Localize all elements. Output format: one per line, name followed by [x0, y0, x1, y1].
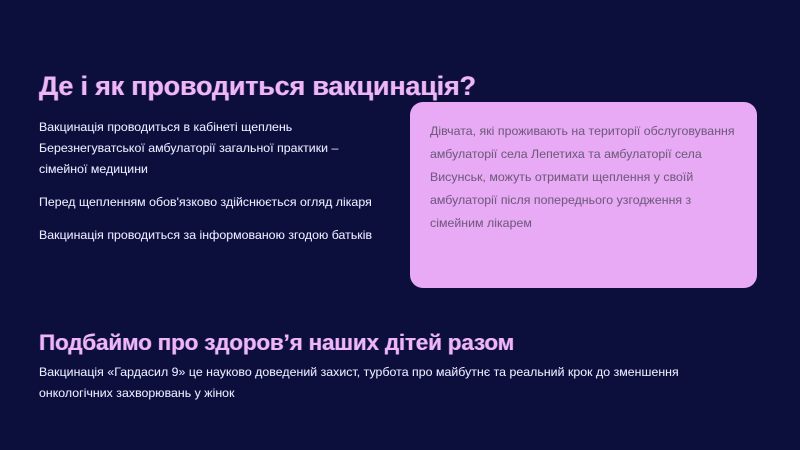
callout-text: Дівчата, які проживають на території обс…	[430, 120, 735, 235]
body-paragraph: Вакцинація проводиться за інформованою з…	[39, 225, 384, 246]
body-paragraph: Перед щепленням обов'язково здійснюється…	[39, 192, 384, 213]
callout-box: Дівчата, які проживають на території обс…	[410, 102, 757, 288]
footer-text-column: Вакцинація «Гардасил 9» це науково довед…	[39, 362, 699, 404]
footer-paragraph: Вакцинація «Гардасил 9» це науково довед…	[39, 362, 699, 404]
body-text-column: Вакцинація проводиться в кабінеті щеплен…	[39, 117, 384, 246]
body-paragraph: Вакцинація проводиться в кабінеті щеплен…	[39, 117, 384, 180]
page-title: Де і як проводиться вакцинація?	[39, 70, 476, 102]
section-heading: Подбаймо про здоров’я наших дітей разом	[39, 329, 514, 357]
slide-canvas: Де і як проводиться вакцинація? Вакцинац…	[0, 0, 800, 450]
